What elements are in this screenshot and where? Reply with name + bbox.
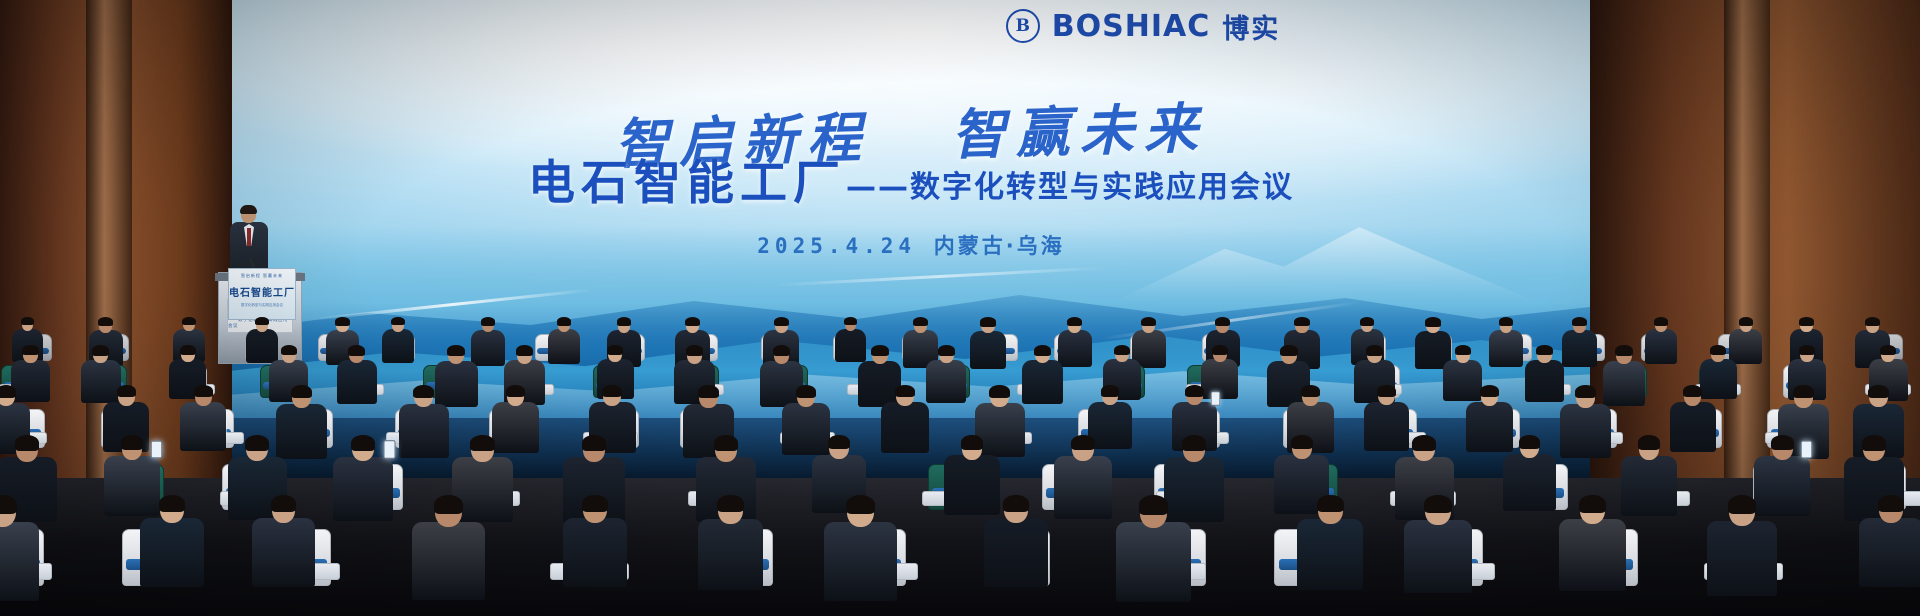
event-location: 内蒙古·乌海 bbox=[934, 234, 1065, 258]
audience-member-hair bbox=[434, 495, 463, 514]
audience-member-hair bbox=[15, 435, 39, 451]
audience-member-hair bbox=[1683, 385, 1702, 397]
audience-member-hair bbox=[117, 385, 136, 397]
event-date: 2025.4.24 bbox=[757, 234, 916, 258]
audience-member-hair bbox=[1141, 317, 1156, 326]
audience-member-hair bbox=[182, 317, 196, 325]
audience-member-hair bbox=[1067, 317, 1082, 326]
audience-member-torso bbox=[1489, 330, 1524, 367]
audience-member-torso bbox=[180, 402, 226, 451]
audience-member-hair bbox=[245, 435, 269, 451]
audience-member bbox=[140, 496, 204, 591]
audience-member-hair bbox=[1862, 435, 1886, 451]
audience-member-hair bbox=[1291, 435, 1313, 449]
audience-member-hair bbox=[1185, 385, 1204, 397]
audience-member-torso bbox=[337, 360, 377, 403]
audience-member-torso bbox=[1707, 521, 1777, 597]
audience-member bbox=[698, 496, 764, 595]
audience-member-hair bbox=[98, 317, 113, 326]
audience-member-hair bbox=[844, 317, 858, 325]
attendee-phone bbox=[1211, 391, 1220, 405]
audience-member-hair bbox=[447, 345, 465, 356]
page-title: 电石智能工厂 bbox=[528, 160, 846, 207]
audience-member bbox=[382, 318, 414, 366]
audience-member bbox=[1621, 436, 1677, 520]
audience-member-hair bbox=[1654, 317, 1668, 326]
audience-member-hair bbox=[617, 317, 632, 326]
audience-member-hair bbox=[717, 495, 743, 512]
audience-member-hair bbox=[1317, 495, 1343, 512]
audience-member-hair bbox=[686, 345, 703, 356]
audience-member-torso bbox=[333, 457, 393, 521]
audience-member bbox=[1560, 386, 1611, 462]
audience-member-hair bbox=[1139, 495, 1169, 515]
audience-member-torso bbox=[1022, 360, 1063, 404]
side-banner-line2: 电石智能工厂 bbox=[229, 284, 295, 299]
side-banner-line1: 智启新程 智赢未来 bbox=[229, 273, 295, 279]
audience-member bbox=[1022, 346, 1063, 408]
audience-member-hair bbox=[22, 345, 39, 355]
attendee-phone bbox=[383, 440, 395, 459]
audience-member-hair bbox=[1071, 435, 1095, 450]
audience-member-hair bbox=[335, 317, 349, 326]
audience-member bbox=[1645, 318, 1677, 367]
audience-member-hair bbox=[1865, 317, 1880, 326]
audience-member-torso bbox=[1054, 456, 1113, 519]
audience-member-hair bbox=[774, 317, 789, 326]
audience-member-torso bbox=[926, 360, 966, 403]
audience-member-torso bbox=[399, 404, 449, 458]
audience-member-hair bbox=[506, 385, 525, 397]
audience-member-hair bbox=[1878, 495, 1904, 512]
audience-member-hair bbox=[1638, 435, 1661, 450]
audience-member-torso bbox=[824, 522, 898, 601]
boshiac-roundel-icon: B bbox=[1006, 9, 1040, 43]
audience-member bbox=[563, 496, 627, 592]
conference-hall-scene: B BOSHIAC 博实 智启新程 智赢未来 电石智能工厂 ——数字化转型与实践… bbox=[0, 0, 1920, 616]
audience-member-hair bbox=[271, 495, 297, 512]
audience-member bbox=[399, 386, 449, 461]
audience-member-hair bbox=[1412, 435, 1436, 451]
audience-member-hair bbox=[291, 385, 312, 398]
audience-member-hair bbox=[255, 317, 269, 325]
speaker-presenter bbox=[228, 206, 270, 276]
audience-member-torso bbox=[1859, 518, 1920, 587]
audience-member bbox=[881, 386, 928, 457]
audience-member-torso bbox=[548, 329, 580, 364]
audience-member-hair bbox=[685, 317, 700, 326]
subtitle-text: 数字化转型与实践应用会议 bbox=[910, 170, 1294, 205]
audience-member-hair bbox=[582, 495, 608, 512]
audience-member bbox=[824, 496, 898, 606]
audience-member-hair bbox=[871, 345, 889, 356]
audience-member-hair bbox=[1799, 345, 1815, 355]
audience-member-torso bbox=[1621, 456, 1677, 516]
audience-member-hair bbox=[0, 495, 17, 514]
audience-member bbox=[970, 318, 1006, 372]
attendee-phone bbox=[1801, 440, 1813, 458]
audience-member bbox=[337, 346, 377, 407]
audience-member-hair bbox=[1480, 385, 1499, 397]
subtitle-dash: —— bbox=[846, 170, 910, 205]
audience-member bbox=[1489, 318, 1524, 370]
boshiac-logo: B BOSHIAC 博实 bbox=[464, 0, 1590, 52]
audience-member-hair bbox=[1868, 385, 1889, 398]
logo-chinese-name: 博实 bbox=[1222, 7, 1280, 46]
audience-member-hair bbox=[1182, 435, 1206, 451]
audience-member-hair bbox=[961, 435, 984, 450]
audience-member bbox=[252, 496, 316, 591]
audience-member-torso bbox=[970, 331, 1006, 370]
audience-member-hair bbox=[21, 317, 34, 325]
event-dateline: 2025.4.24 内蒙古·乌海 bbox=[232, 230, 1590, 260]
audience-member-torso bbox=[1503, 454, 1556, 511]
audience-member-hair bbox=[1615, 345, 1633, 356]
audience-member-hair bbox=[1360, 317, 1374, 326]
audience-member-hair bbox=[1499, 317, 1514, 326]
audience-member-hair bbox=[913, 317, 928, 326]
audience-member-hair bbox=[470, 435, 494, 451]
audience-member-hair bbox=[1710, 345, 1726, 355]
audience-member bbox=[1562, 318, 1596, 370]
audience-member bbox=[180, 386, 226, 455]
audience-seating bbox=[0, 300, 1920, 616]
speaker-hair bbox=[240, 205, 257, 214]
logo-english-name: BOSHIAC bbox=[1052, 9, 1210, 44]
audience-member-torso bbox=[0, 522, 39, 601]
audience-member-hair bbox=[1003, 495, 1029, 512]
audience-member-hair bbox=[1880, 345, 1896, 355]
audience-member-hair bbox=[348, 345, 365, 356]
audience-member-hair bbox=[194, 385, 213, 397]
conference-title-line: 电石智能工厂 ——数字化转型与实践应用会议 bbox=[232, 160, 1590, 207]
audience-member-hair bbox=[607, 345, 623, 355]
audience-member-hair bbox=[714, 435, 738, 451]
audience-member-hair bbox=[391, 317, 405, 325]
audience-member bbox=[1525, 346, 1564, 405]
audience-member-torso bbox=[698, 519, 764, 590]
audience-member-hair bbox=[773, 345, 791, 356]
audience-member-hair bbox=[1101, 385, 1120, 397]
audience-member-torso bbox=[1645, 329, 1677, 364]
audience-member-torso bbox=[382, 329, 414, 363]
audience-member bbox=[984, 496, 1048, 592]
audience-member-hair bbox=[351, 435, 375, 451]
audience-member bbox=[1054, 436, 1113, 524]
audience-member-torso bbox=[1525, 360, 1564, 402]
audience-member-hair bbox=[1215, 317, 1230, 326]
audience-member-torso bbox=[1116, 522, 1190, 602]
audience-member-hair bbox=[1519, 435, 1541, 449]
audience-member-hair bbox=[1377, 385, 1396, 397]
audience-member-hair bbox=[1793, 385, 1814, 398]
audience-member-hair bbox=[557, 317, 571, 326]
audience-member bbox=[926, 346, 966, 406]
audience-member bbox=[548, 318, 580, 366]
audience-member-hair bbox=[1799, 317, 1813, 326]
audience-member bbox=[412, 496, 485, 606]
audience-member-hair bbox=[828, 435, 850, 449]
audience-member bbox=[0, 496, 39, 607]
audience-member-torso bbox=[1404, 520, 1472, 594]
speaker-tie bbox=[247, 228, 251, 246]
audience-member-torso bbox=[412, 522, 485, 601]
slogan-gap bbox=[895, 155, 929, 156]
audience-member-hair bbox=[1280, 345, 1298, 356]
audience-member-hair bbox=[481, 317, 495, 326]
audience-member-hair bbox=[1575, 385, 1596, 398]
audience-member-hair bbox=[1572, 317, 1587, 326]
audience-member-hair bbox=[159, 495, 185, 512]
audience-member-hair bbox=[1294, 317, 1309, 326]
audience-member-hair bbox=[582, 435, 607, 451]
audience-member-hair bbox=[281, 345, 298, 355]
audience-member-hair bbox=[602, 385, 621, 397]
audience-member-torso bbox=[881, 402, 928, 453]
audience-member-hair bbox=[1034, 345, 1051, 356]
logo-mark-letter: B bbox=[1016, 18, 1030, 35]
audience-member-torso bbox=[563, 518, 627, 587]
slogan-right: 智赢未来 bbox=[951, 99, 1209, 166]
audience-member-hair bbox=[938, 345, 955, 356]
audience-member-hair bbox=[1536, 345, 1552, 355]
audience-member-torso bbox=[1559, 519, 1626, 591]
audience-member-hair bbox=[1114, 345, 1130, 355]
audience-member bbox=[1297, 496, 1363, 595]
audience-member-hair bbox=[1366, 345, 1383, 356]
audience-member-hair bbox=[92, 345, 109, 356]
audience-member-torso bbox=[1562, 330, 1596, 367]
audience-member-hair bbox=[698, 385, 719, 398]
audience-member bbox=[1707, 496, 1777, 602]
audience-member-torso bbox=[140, 518, 204, 586]
audience-member-torso bbox=[252, 518, 316, 586]
audience-member-hair bbox=[846, 495, 875, 514]
audience-member bbox=[1503, 436, 1556, 515]
audience-member-hair bbox=[0, 385, 16, 398]
audience-member-hair bbox=[895, 385, 914, 397]
audience-member-hair bbox=[1301, 385, 1320, 397]
audience-member-hair bbox=[413, 385, 434, 398]
audience-member-hair bbox=[796, 385, 816, 398]
audience-member-torso bbox=[1297, 519, 1363, 590]
audience-member-hair bbox=[1579, 495, 1606, 513]
audience-member-hair bbox=[1425, 317, 1440, 327]
audience-member-hair bbox=[180, 345, 196, 355]
audience-member-hair bbox=[516, 345, 533, 356]
audience-member-torso bbox=[984, 518, 1048, 587]
audience-member-hair bbox=[1728, 495, 1756, 514]
audience-member bbox=[1559, 496, 1626, 596]
attendee-phone bbox=[151, 440, 162, 458]
audience-member-hair bbox=[1424, 495, 1451, 513]
audience-member-hair bbox=[121, 435, 144, 450]
audience-member bbox=[1859, 496, 1920, 592]
audience-member-hair bbox=[1739, 317, 1753, 326]
audience-member-torso bbox=[1560, 404, 1611, 458]
audience-member-hair bbox=[1455, 345, 1471, 355]
audience-member-hair bbox=[980, 317, 995, 327]
audience-member bbox=[1116, 496, 1190, 607]
conference-subtitle: ——数字化转型与实践应用会议 bbox=[846, 173, 1294, 207]
audience-member-hair bbox=[989, 385, 1009, 398]
audience-member bbox=[1404, 496, 1472, 599]
audience-member-hair bbox=[1771, 435, 1794, 450]
audience-member-hair bbox=[1212, 345, 1228, 355]
